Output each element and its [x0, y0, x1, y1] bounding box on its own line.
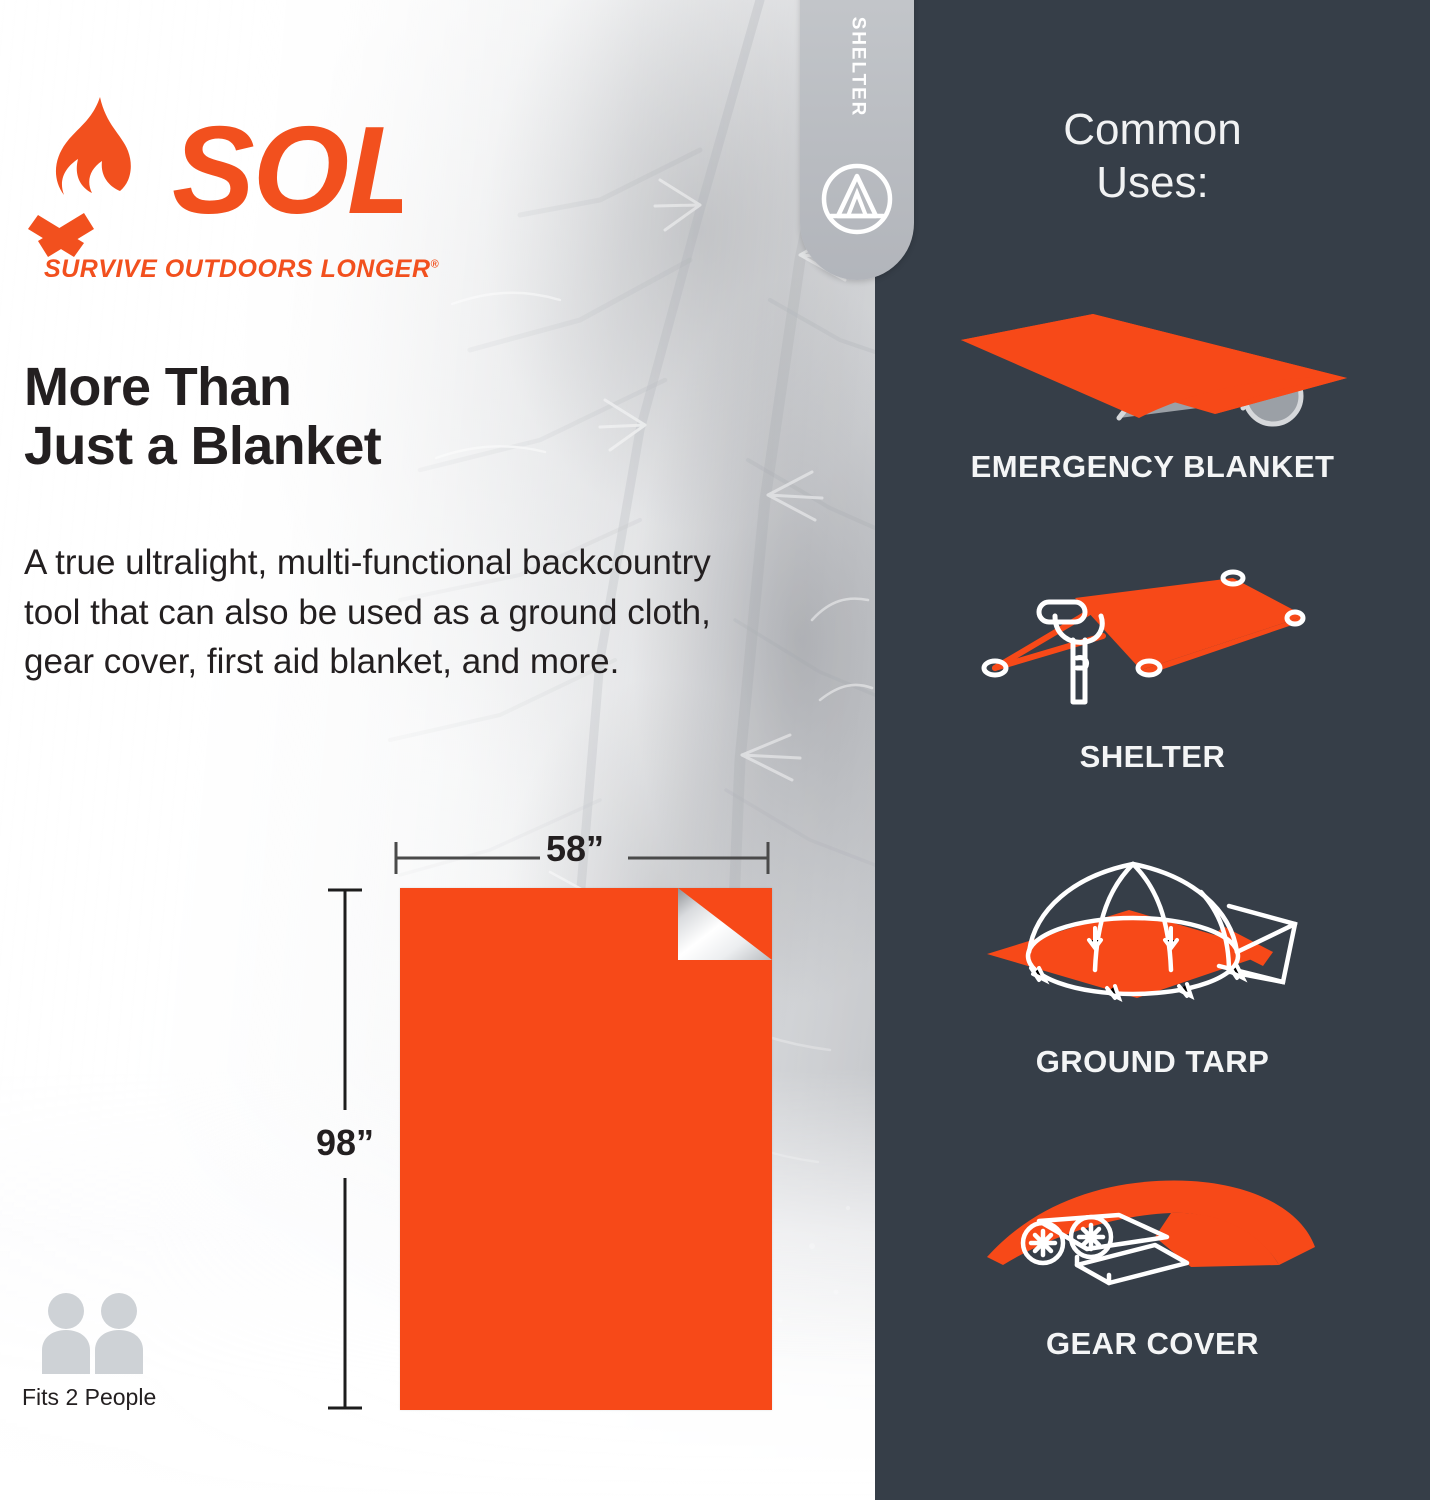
- person-under-blanket-icon: [943, 268, 1363, 438]
- two-people-icon: [40, 1292, 160, 1374]
- use-label-gear-cover: GEAR COVER: [875, 1326, 1430, 1362]
- common-uses-title-line-2: Uses:: [875, 157, 1430, 210]
- blanket-rectangle: [400, 888, 772, 1410]
- use-item-emergency-blanket: EMERGENCY BLANKET: [875, 268, 1430, 485]
- use-item-gear-cover: GEAR COVER: [875, 1175, 1430, 1362]
- height-label: 98”: [316, 1122, 374, 1164]
- use-label-ground-tarp: GROUND TARP: [875, 1044, 1430, 1080]
- blanket-curled-corner: [678, 888, 772, 960]
- infographic-canvas: SOL SURVIVE OUTDOORS LONGER® More Than J…: [0, 0, 1430, 1500]
- use-item-shelter: SHELTER: [875, 558, 1430, 775]
- common-uses-title: Common Uses:: [875, 104, 1430, 210]
- common-uses-title-line-1: Common: [875, 104, 1430, 157]
- dome-tent-on-tarp-icon: [943, 848, 1363, 1033]
- tarp-on-trekking-pole-icon: [943, 558, 1363, 728]
- shelter-tab-label: SHELTER: [846, 17, 868, 118]
- fits-people-label: Fits 2 People: [22, 1384, 156, 1411]
- use-label-shelter: SHELTER: [875, 739, 1430, 775]
- tarp-over-gear-sled-icon: [943, 1175, 1363, 1315]
- shelter-tab-label-wrap: SHELTER: [782, 4, 932, 30]
- width-label: 58”: [546, 828, 604, 870]
- use-label-emergency-blanket: EMERGENCY BLANKET: [875, 449, 1430, 485]
- use-item-ground-tarp: GROUND TARP: [875, 848, 1430, 1080]
